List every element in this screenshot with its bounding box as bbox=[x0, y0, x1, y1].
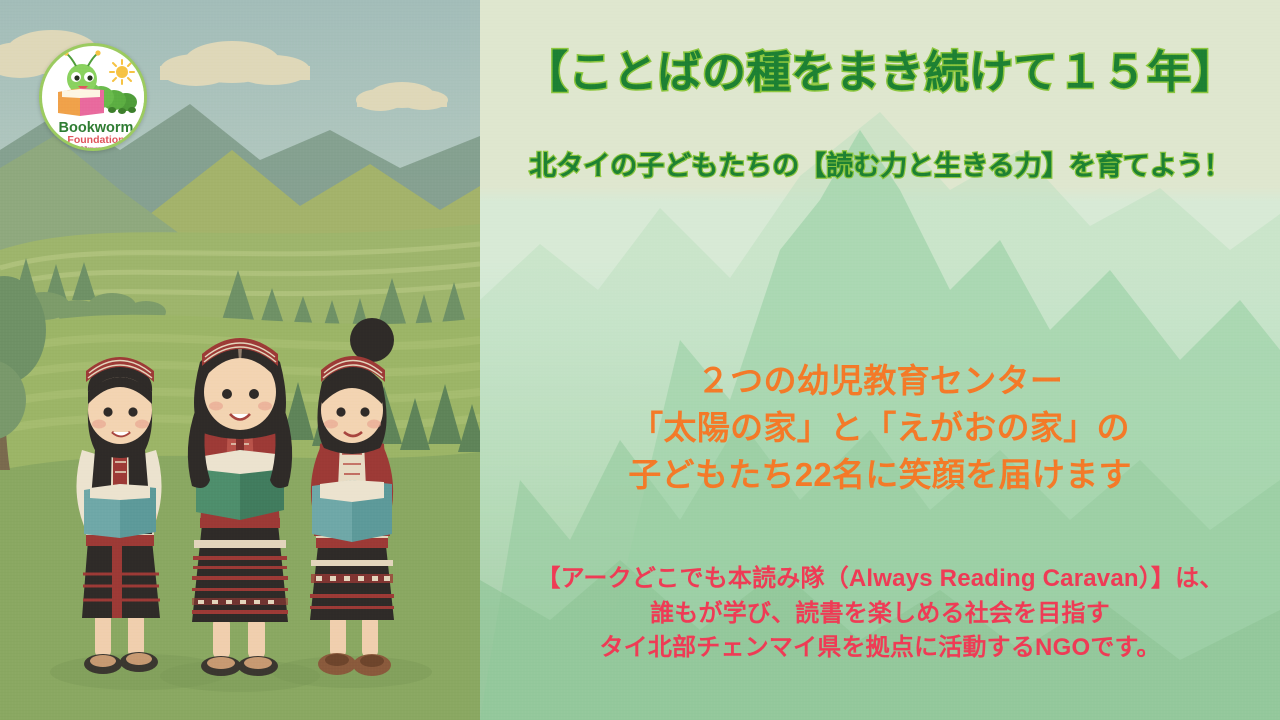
bookworm-foundation-logo[interactable]: Bookworm Foundation มูลนิธิหนอนหนังสือ bbox=[39, 43, 147, 151]
text-panel: 【ことばの種をまき続けて１５年】 北タイの子どもたちの【読む力と生きる力】を育て… bbox=[480, 0, 1280, 720]
book-right bbox=[312, 480, 392, 542]
bottom-line-1: 【アークどこでも本読み隊（Always Reading Caravan）】は、 bbox=[480, 562, 1280, 597]
book-center bbox=[196, 450, 284, 520]
organization-description-block: 【アークどこでも本読み隊（Always Reading Caravan）】は、 … bbox=[480, 562, 1280, 666]
hair-bun bbox=[350, 318, 394, 362]
bottom-line-3: タイ北部チェンマイ県を拠点に活動するNGOです。 bbox=[480, 631, 1280, 666]
book-icon bbox=[58, 88, 104, 116]
bottom-line-2: 誰もが学び、読書を楽しめる社会を目指す bbox=[480, 597, 1280, 632]
page-subtitle: 北タイの子どもたちの【読む力と生きる力】を育てよう！ bbox=[480, 152, 1280, 182]
page-title: 【ことばの種をまき続けて１５年】 bbox=[480, 50, 1280, 97]
middle-message-block: ２つの幼児教育センター 「太陽の家」と「えがおの家」の 子どもたち22名に笑顔を… bbox=[480, 358, 1280, 499]
middle-line-2: 「太陽の家」と「えがおの家」の bbox=[480, 405, 1280, 452]
poster-canvas: Bookworm Foundation มูลนิธิหนอนหนังสือ 【… bbox=[0, 0, 1280, 720]
logo-name-line2: Foundation bbox=[67, 134, 124, 146]
book-left bbox=[84, 484, 156, 538]
sun-icon bbox=[110, 60, 134, 84]
middle-line-3: 子どもたち22名に笑顔を届けます bbox=[480, 452, 1280, 499]
middle-line-1: ２つの幼児教育センター bbox=[480, 358, 1280, 405]
illustration-panel: Bookworm Foundation มูลนิธิหนอนหนังสือ bbox=[0, 0, 480, 720]
